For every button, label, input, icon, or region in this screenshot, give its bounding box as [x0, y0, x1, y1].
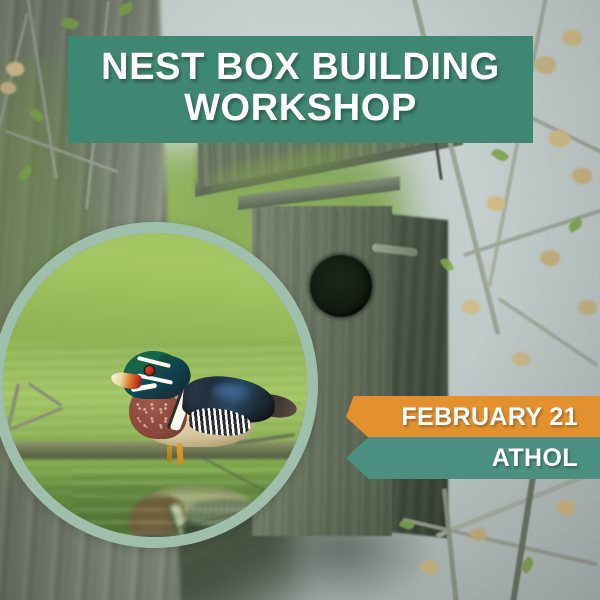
location-banner: ATHOL — [346, 437, 600, 479]
wood-duck — [115, 351, 295, 471]
page-title-line-2: WORKSHOP — [184, 88, 417, 129]
duck-reflection — [115, 463, 295, 537]
event-poster: NEST BOX BUILDING WORKSHOP — [0, 0, 600, 600]
circle-photo-wood-duck — [0, 222, 318, 548]
title-banner: NEST BOX BUILDING WORKSHOP — [68, 36, 533, 143]
duck-leg-back — [167, 445, 172, 463]
duck-scene — [3, 233, 307, 537]
duck-bill — [110, 371, 142, 390]
page-title-line-1: NEST BOX BUILDING — [101, 47, 500, 88]
event-location: ATHOL — [492, 444, 578, 473]
duck-eye — [145, 366, 154, 375]
event-date: FEBRUARY 21 — [401, 403, 578, 432]
date-banner: FEBRUARY 21 — [346, 396, 600, 438]
